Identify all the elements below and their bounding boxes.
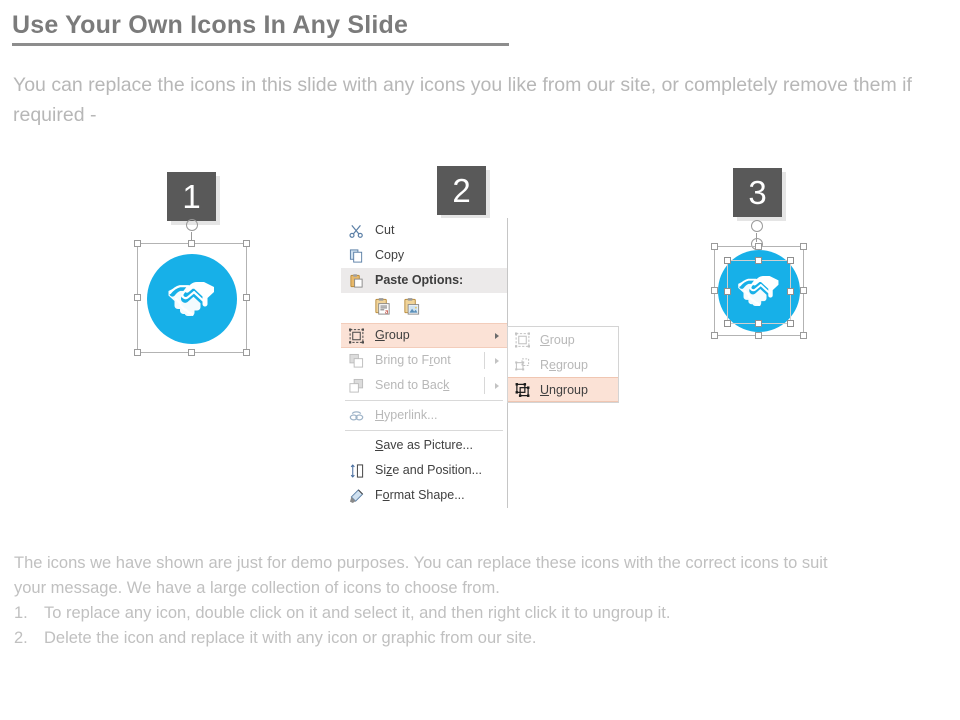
handle-nw-3-outer[interactable] [711,243,718,250]
submenu-item-ungroup[interactable]: Ungroup [508,377,618,402]
handle-se-3-inner[interactable] [787,320,794,327]
menu-item-group-label: Group [375,323,410,348]
rotate-handle-3-outer[interactable] [751,220,763,232]
format-shape-icon [348,487,365,504]
handle-e-1[interactable] [243,294,250,301]
clipboard-icon [348,272,365,289]
handle-n-1[interactable] [188,240,195,247]
menu-item-copy[interactable]: Copy [341,243,507,268]
menu-item-paste-options: Paste Options: [341,268,507,293]
ungroup-icon [514,381,531,398]
submenu-item-group: Group [508,327,618,352]
submenu-item-regroup: Regroup [508,352,618,377]
menu-item-size-and-position-label: Size and Position... [375,458,482,483]
footer-list-number-2: 2. [14,626,44,651]
handle-w-3-outer[interactable] [711,287,718,294]
handle-se-3-outer[interactable] [800,332,807,339]
paste-options-row[interactable]: a [341,293,507,323]
size-position-icon [348,462,365,479]
menu-item-format-shape[interactable]: Format Shape... [341,483,507,508]
chevron-right-icon [495,358,499,364]
chevron-right-icon [495,383,499,389]
handle-nw-1[interactable] [134,240,141,247]
scissors-icon [348,222,365,239]
menu-item-hyperlink-label: Hyperlink... [375,403,438,428]
selection-box-3-inner[interactable] [727,260,791,324]
paste-keep-text-icon[interactable]: a [373,297,392,319]
footer-list-text-1: To replace any icon, double click on it … [44,601,670,626]
menu-item-copy-label: Copy [375,243,404,268]
submenu-divider [484,352,485,369]
handle-w-3-inner[interactable] [724,288,731,295]
menu-item-hyperlink: Hyperlink... [341,403,507,428]
menu-item-cut-label: Cut [375,218,394,243]
submenu-divider [484,377,485,394]
paste-picture-icon[interactable] [402,297,421,319]
menu-item-bring-to-front: Bring to Front [341,348,507,373]
handshake-icon-1[interactable] [147,254,237,344]
regroup-icon [514,356,531,373]
intro-paragraph: You can replace the icons in this slide … [13,70,953,130]
menu-item-send-to-back-label: Send to Back [375,373,449,398]
submenu-item-ungroup-label: Ungroup [540,383,588,397]
footer-line-1: The icons we have shown are just for dem… [14,551,944,576]
handle-e-3-inner[interactable] [787,288,794,295]
handle-sw-3-inner[interactable] [724,320,731,327]
rotate-handle-1[interactable] [186,219,198,231]
footer-line-2: your message. We have a large collection… [14,576,944,601]
send-to-back-icon [348,377,365,394]
submenu-item-group-label: Group [540,333,575,347]
bring-to-front-icon [348,352,365,369]
footer-list-item-1: 1. To replace any icon, double click on … [14,601,944,626]
handle-ne-3-inner[interactable] [787,257,794,264]
handle-n-3-outer[interactable] [755,243,762,250]
handle-w-1[interactable] [134,294,141,301]
handshake-icon [166,279,218,319]
handle-sw-3-outer[interactable] [711,332,718,339]
handle-nw-3-inner[interactable] [724,257,731,264]
context-menu[interactable]: Cut Copy Paste Options: a [341,218,508,508]
submenu-item-regroup-label: Regroup [540,358,588,372]
menu-separator [345,430,503,431]
copy-icon [348,247,365,264]
handle-s-1[interactable] [188,349,195,356]
step-badge-1: 1 [167,172,216,221]
handle-ne-3-outer[interactable] [800,243,807,250]
menu-item-cut[interactable]: Cut [341,218,507,243]
handle-e-3-outer[interactable] [800,287,807,294]
hyperlink-icon [348,407,365,424]
menu-separator [345,400,503,401]
slide-canvas: Use Your Own Icons In Any Slide You can … [0,0,960,720]
handle-se-1[interactable] [243,349,250,356]
menu-item-save-as-picture-label: Save as Picture... [375,433,473,458]
group-submenu[interactable]: Group Regroup Ungroup [507,326,619,403]
handle-n-3-inner[interactable] [755,257,762,264]
menu-item-size-and-position[interactable]: Size and Position... [341,458,507,483]
group-icon [348,327,365,344]
menu-item-save-as-picture[interactable]: Save as Picture... [341,433,507,458]
handle-s-3-inner[interactable] [755,320,762,327]
step-badge-2: 2 [437,166,486,215]
handle-s-3-outer[interactable] [755,332,762,339]
footer-list-item-2: 2. Delete the icon and replace it with a… [14,626,944,651]
menu-item-bring-to-front-label: Bring to Front [375,348,451,373]
handle-sw-1[interactable] [134,349,141,356]
menu-item-send-to-back: Send to Back [341,373,507,398]
page-title: Use Your Own Icons In Any Slide [12,10,509,46]
page-title-text: Use Your Own Icons In Any Slide [12,10,509,40]
footer-list-number-1: 1. [14,601,44,626]
chevron-right-icon [495,333,499,339]
menu-item-group[interactable]: Group [341,323,507,348]
title-underline [12,43,509,46]
handle-ne-1[interactable] [243,240,250,247]
step-badge-3: 3 [733,168,782,217]
menu-item-paste-options-label: Paste Options: [375,268,463,293]
footer-list-text-2: Delete the icon and replace it with any … [44,626,537,651]
menu-item-format-shape-label: Format Shape... [375,483,465,508]
footer-text: The icons we have shown are just for dem… [14,551,944,651]
svg-text:a: a [385,309,389,316]
group-icon [514,331,531,348]
